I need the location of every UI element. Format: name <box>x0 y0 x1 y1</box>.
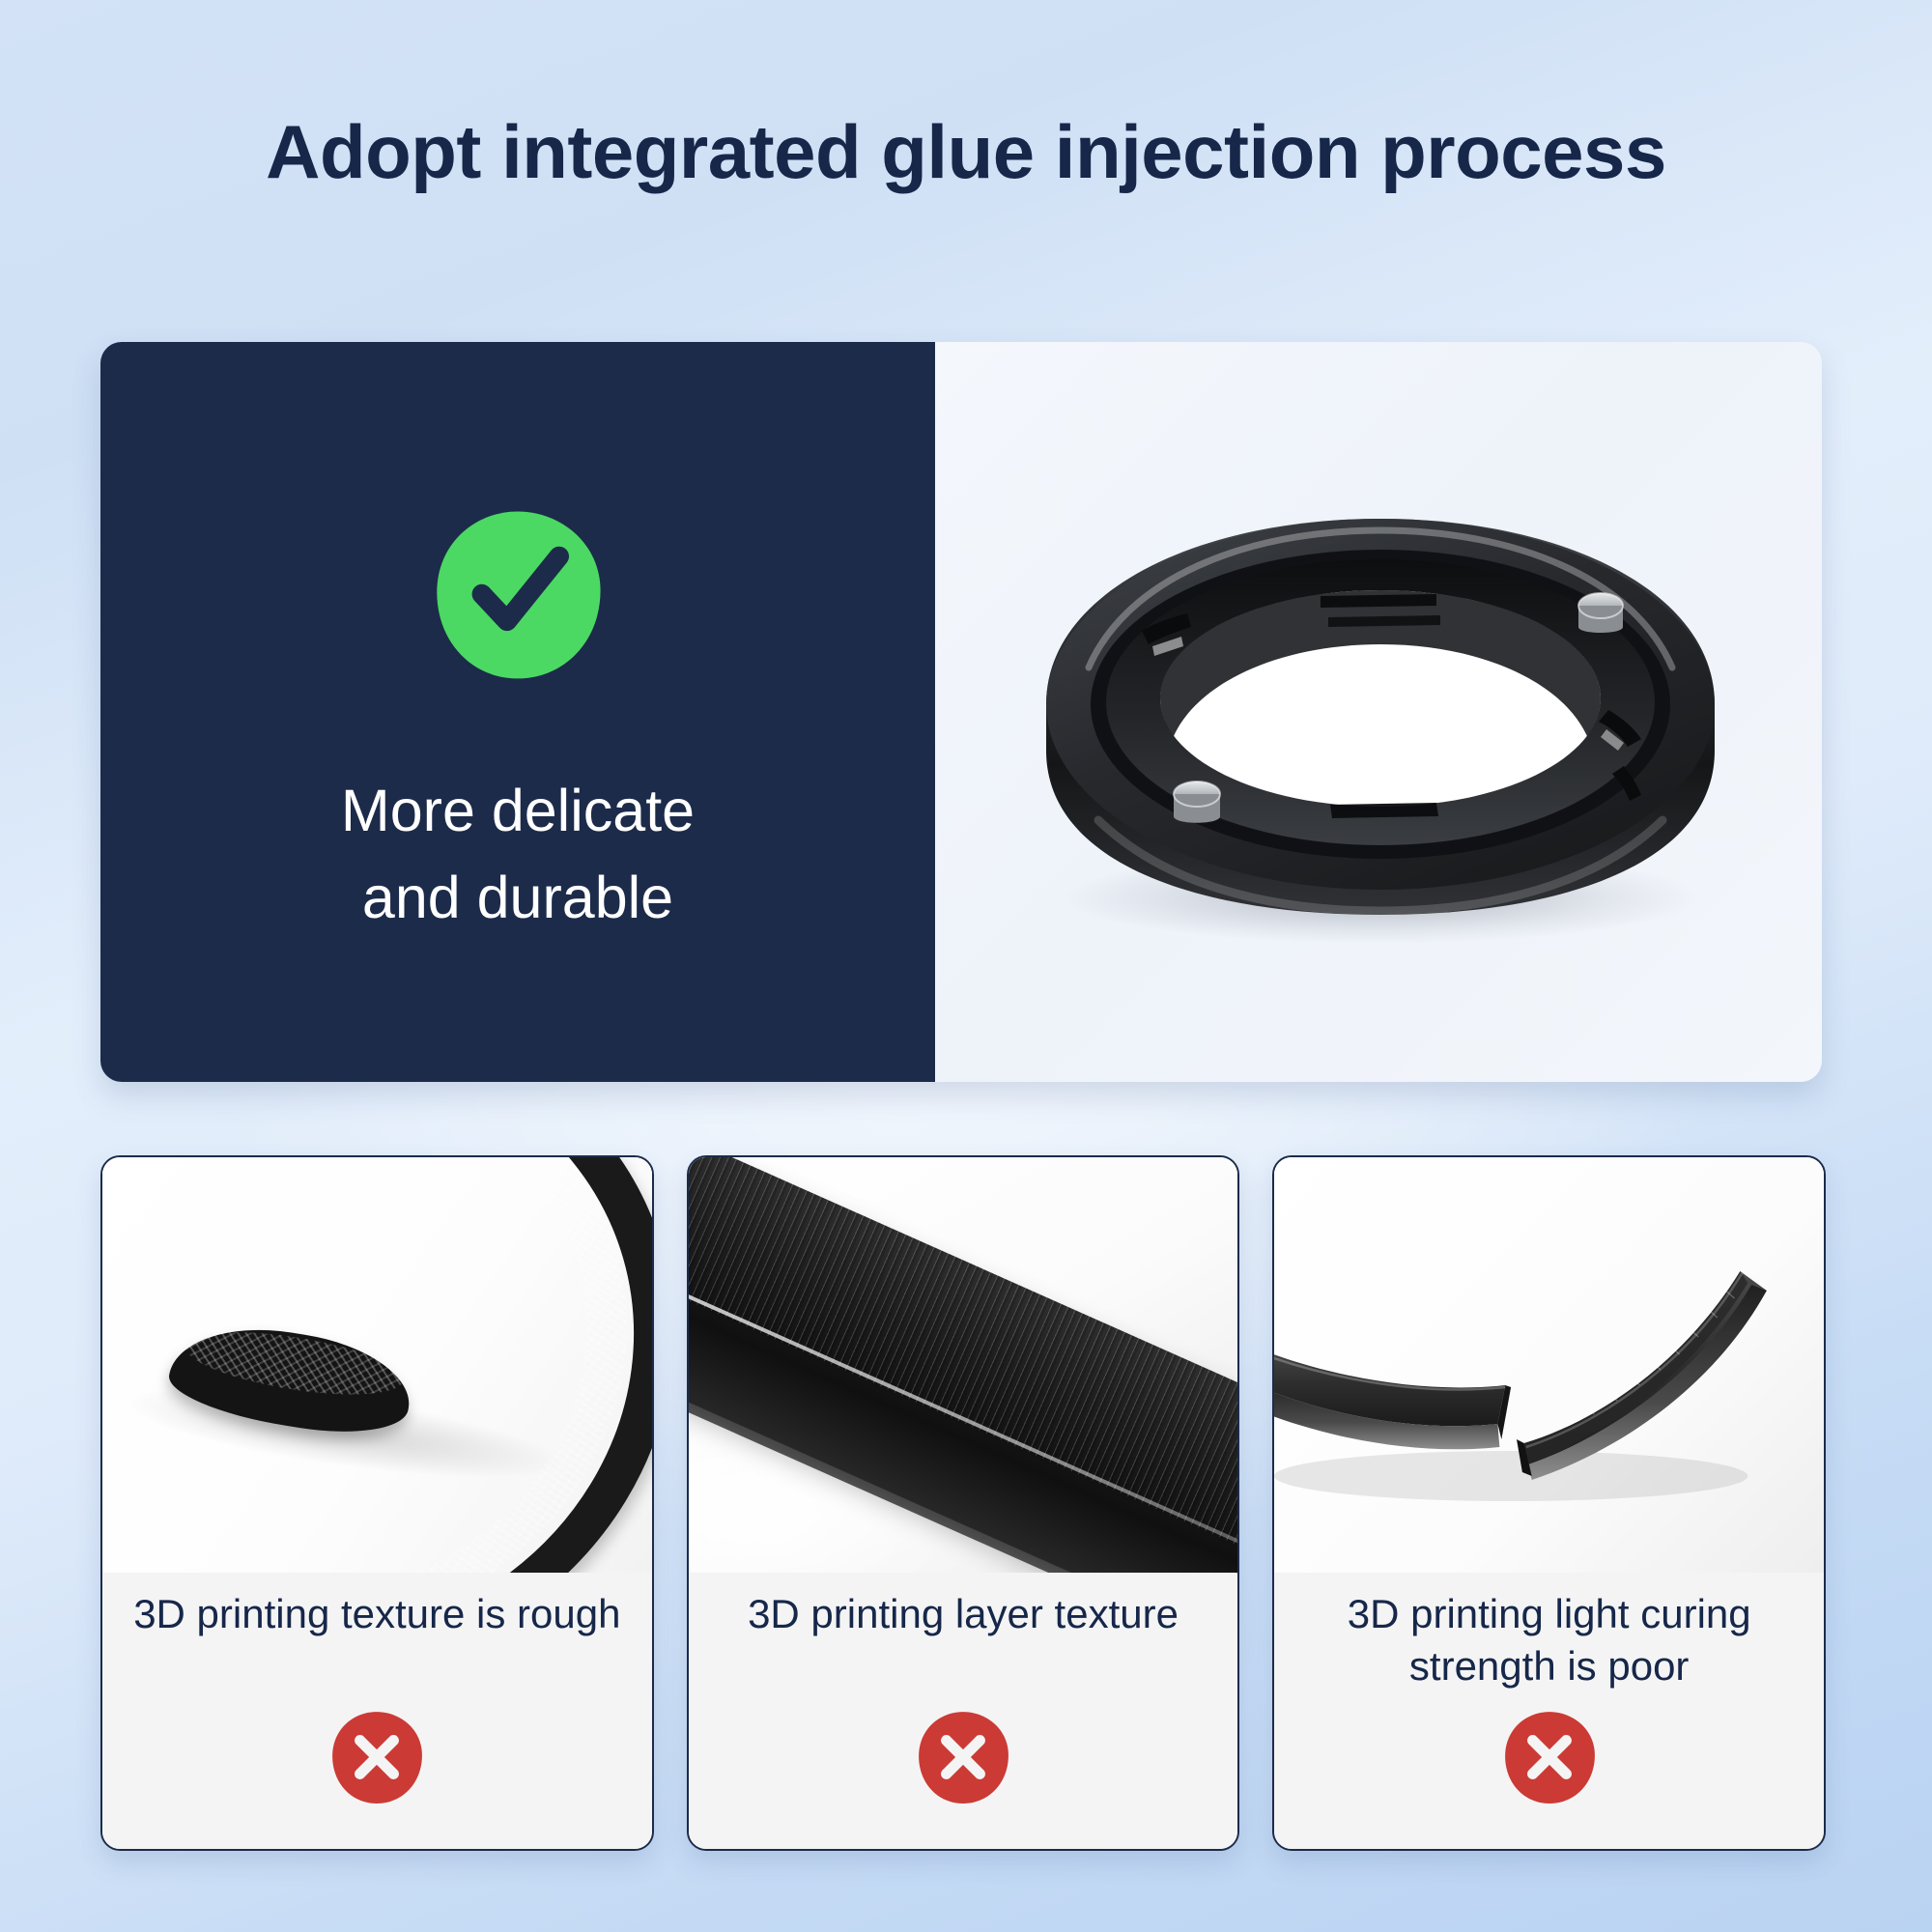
highlight-panel: More delicate and durable <box>100 342 1822 1082</box>
drawback-card: 3D printing layer texture <box>687 1155 1240 1851</box>
highlight-panel-left: More delicate and durable <box>100 342 935 1082</box>
x-circle-icon <box>914 1708 1012 1806</box>
drawback-card: 3D printing light curing strength is poo… <box>1272 1155 1826 1851</box>
x-circle-icon <box>1500 1708 1599 1806</box>
card-caption: 3D printing texture is rough <box>102 1588 652 1640</box>
highlight-caption-line2: and durable <box>100 854 935 941</box>
x-circle-icon <box>327 1708 426 1806</box>
card-caption: 3D printing light curing strength is poo… <box>1274 1588 1824 1692</box>
card-caption: 3D printing layer texture <box>689 1588 1238 1640</box>
check-circle-icon <box>428 504 608 684</box>
drawback-card-list: 3D printing texture is rough <box>100 1155 1826 1847</box>
product-photo <box>935 342 1822 1082</box>
card-photo-broken-piece <box>1274 1157 1824 1573</box>
card-photo-rough-texture <box>102 1157 652 1573</box>
highlight-caption-line1: More delicate <box>100 767 935 854</box>
card-body: 3D printing texture is rough <box>102 1573 652 1849</box>
card-photo-layer-texture <box>689 1157 1238 1573</box>
card-caption-line1: 3D printing layer texture <box>704 1588 1223 1640</box>
bezel-ring-illustration <box>982 461 1775 963</box>
page-title: Adopt integrated glue injection process <box>0 114 1932 189</box>
promo-infographic: Adopt integrated glue injection process … <box>0 0 1932 1932</box>
card-caption-line2: strength is poor <box>1290 1640 1808 1692</box>
card-caption-line1: 3D printing texture is rough <box>118 1588 637 1640</box>
drawback-card: 3D printing texture is rough <box>100 1155 654 1851</box>
card-body: 3D printing light curing strength is poo… <box>1274 1573 1824 1849</box>
card-caption-line1: 3D printing light curing <box>1290 1588 1808 1640</box>
card-body: 3D printing layer texture <box>689 1573 1238 1849</box>
highlight-caption: More delicate and durable <box>100 767 935 942</box>
